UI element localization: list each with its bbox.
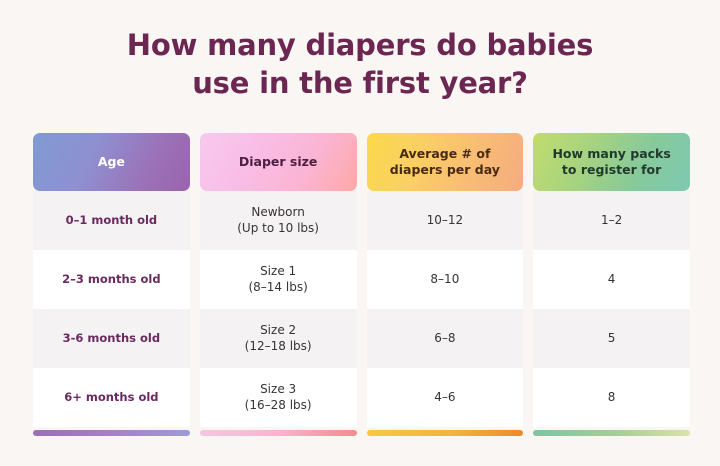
cell-size-0-main: Newborn <box>251 205 304 219</box>
table-row: 8 <box>533 368 690 427</box>
cell-age-3: 6+ months old <box>64 390 158 405</box>
table-row: 4–6 <box>367 368 524 427</box>
cell-size-0-sub: (Up to 10 lbs) <box>237 221 319 237</box>
table-row: 3-6 months old <box>33 309 190 368</box>
cell-per-day-2: 6–8 <box>434 331 455 347</box>
column-header-average-line1: Average # of <box>399 146 490 161</box>
column-header-diaper-size-label: Diaper size <box>239 154 318 171</box>
infographic-page: How many diapers do babies use in the fi… <box>0 0 720 466</box>
cell-age-1: 2–3 months old <box>62 272 160 287</box>
cell-size-2: Size 2 (12–18 lbs) <box>245 323 312 354</box>
table-row: 6+ months old <box>33 368 190 427</box>
table-row: 8–10 <box>367 250 524 309</box>
column-header-average-per-day: Average # of diapers per day <box>367 133 524 191</box>
table-row: Size 1 (8–14 lbs) <box>200 250 357 309</box>
cell-per-day-1: 8–10 <box>430 272 459 288</box>
cell-packs-0: 1–2 <box>601 213 622 229</box>
table-row: 1–2 <box>533 191 690 250</box>
column-header-age-label: Age <box>98 154 125 171</box>
cell-packs-2: 5 <box>608 331 616 347</box>
cell-size-3-sub: (16–28 lbs) <box>245 398 312 414</box>
column-accent-bar-packs <box>533 430 690 436</box>
table-row: Size 2 (12–18 lbs) <box>200 309 357 368</box>
cell-per-day-0: 10–12 <box>427 213 464 229</box>
cell-packs-3: 8 <box>608 390 616 406</box>
cell-packs-1: 4 <box>608 272 616 288</box>
column-header-age: Age <box>33 133 190 191</box>
cell-size-1-sub: (8–14 lbs) <box>248 280 307 296</box>
table-column-diaper-size: Diaper size Newborn (Up to 10 lbs) Size … <box>200 133 357 436</box>
column-header-packs-line1: How many packs <box>552 146 670 161</box>
cell-size-3: Size 3 (16–28 lbs) <box>245 382 312 413</box>
table-row: 4 <box>533 250 690 309</box>
cell-size-2-main: Size 2 <box>260 323 296 337</box>
table-column-packs: How many packs to register for 1–2 4 5 8 <box>533 133 690 436</box>
column-accent-bar-average-per-day <box>367 430 524 436</box>
table-column-age: Age 0–1 month old 2–3 months old 3-6 mon… <box>33 133 190 436</box>
cell-size-0: Newborn (Up to 10 lbs) <box>237 205 319 236</box>
column-header-average-per-day-label: Average # of diapers per day <box>390 146 500 179</box>
column-header-packs-label: How many packs to register for <box>552 146 670 179</box>
column-header-packs-line2: to register for <box>562 162 661 177</box>
cell-age-2: 3-6 months old <box>63 331 160 346</box>
cell-per-day-3: 4–6 <box>434 390 455 406</box>
column-accent-bar-diaper-size <box>200 430 357 436</box>
table-column-average-per-day: Average # of diapers per day 10–12 8–10 … <box>367 133 524 436</box>
table-row: Size 3 (16–28 lbs) <box>200 368 357 427</box>
column-header-diaper-size: Diaper size <box>200 133 357 191</box>
column-accent-bar-age <box>33 430 190 436</box>
cell-size-1: Size 1 (8–14 lbs) <box>248 264 307 295</box>
cell-size-3-main: Size 3 <box>260 382 296 396</box>
table-row: 6–8 <box>367 309 524 368</box>
column-header-packs: How many packs to register for <box>533 133 690 191</box>
title-line-1: How many diapers do babies <box>0 26 720 64</box>
title-line-2: use in the first year? <box>0 64 720 102</box>
column-header-average-line2: diapers per day <box>390 162 500 177</box>
cell-age-0: 0–1 month old <box>66 213 158 228</box>
table-row: 5 <box>533 309 690 368</box>
table-row: 10–12 <box>367 191 524 250</box>
table-row: Newborn (Up to 10 lbs) <box>200 191 357 250</box>
table-row: 0–1 month old <box>33 191 190 250</box>
cell-size-2-sub: (12–18 lbs) <box>245 339 312 355</box>
table-row: 2–3 months old <box>33 250 190 309</box>
page-title: How many diapers do babies use in the fi… <box>0 0 720 103</box>
cell-size-1-main: Size 1 <box>260 264 296 278</box>
diaper-table: Age 0–1 month old 2–3 months old 3-6 mon… <box>33 133 690 436</box>
